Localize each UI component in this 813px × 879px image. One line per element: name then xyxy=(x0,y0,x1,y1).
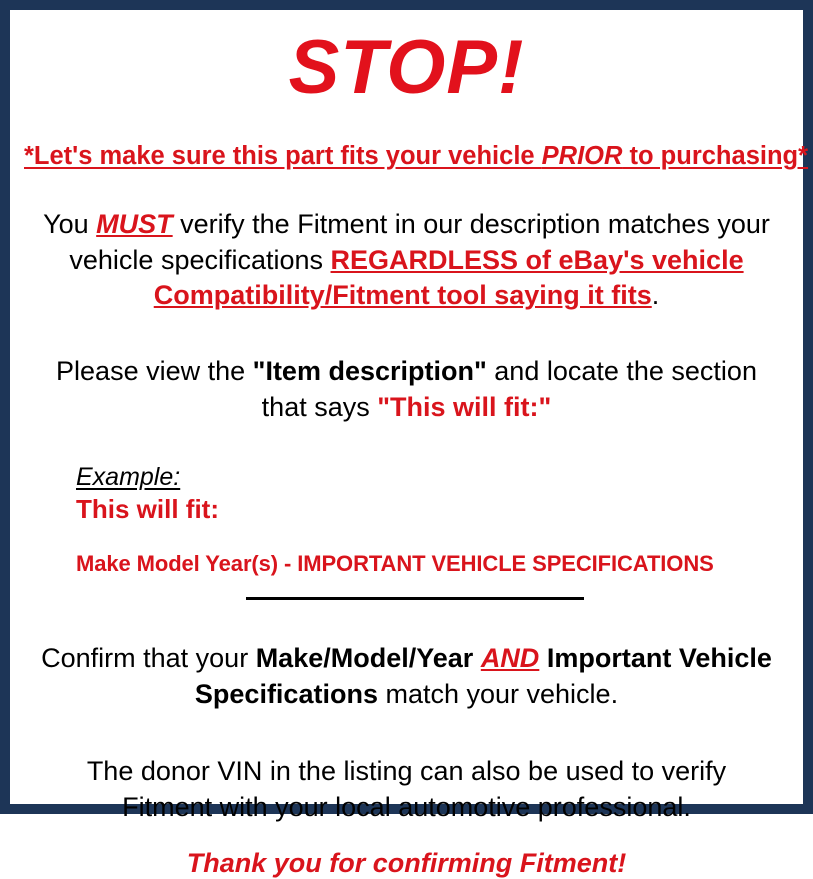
confirm-paragraph: Confirm that your Make/Model/Year AND Im… xyxy=(24,641,789,712)
divider-wrap xyxy=(24,597,789,611)
example-label: Example: xyxy=(76,463,180,492)
confirm-seg3 xyxy=(539,643,547,673)
item-description-paragraph: Please view the "Item description" and l… xyxy=(24,354,789,425)
notice-content: STOP! *Let's make sure this part fits yo… xyxy=(10,10,803,804)
thanks-line: Thank you for confirming Fitment! xyxy=(24,848,789,879)
confirm-seg4: match your vehicle. xyxy=(378,679,618,709)
confirm-seg2 xyxy=(473,643,481,673)
fitment-notice-card: STOP! *Let's make sure this part fits yo… xyxy=(0,0,813,814)
stop-title: STOP! xyxy=(24,30,789,106)
subtitle-prior-emphasis: PRIOR xyxy=(542,142,623,170)
subtitle-before: *Let's make sure this part fits your veh… xyxy=(24,142,542,170)
example-fit-line: This will fit: xyxy=(76,494,789,525)
confirm-seg1: Confirm that your xyxy=(41,643,256,673)
donor-vin-paragraph: The donor VIN in the listing can also be… xyxy=(24,754,789,825)
example-label-row: Example: xyxy=(76,463,789,492)
this-will-fit-emphasis: "This will fit:" xyxy=(377,392,551,422)
example-block: Example: This will fit: Make Model Year(… xyxy=(24,463,789,577)
desc-seg1: Please view the xyxy=(56,356,253,386)
must-seg1: You xyxy=(43,209,96,239)
must-verify-paragraph: You MUST verify the Fitment in our descr… xyxy=(24,207,789,314)
item-description-emphasis: "Item description" xyxy=(253,356,487,386)
subtitle-line: *Let's make sure this part fits your veh… xyxy=(24,142,789,171)
subtitle-after: to purchasing* xyxy=(622,142,808,170)
make-model-year-emphasis: Make/Model/Year xyxy=(256,643,474,673)
must-seg3: . xyxy=(652,280,660,310)
section-divider xyxy=(246,597,584,600)
must-emphasis: MUST xyxy=(96,209,173,239)
example-spec-line: Make Model Year(s) - IMPORTANT VEHICLE S… xyxy=(76,551,789,577)
and-emphasis: AND xyxy=(481,643,540,673)
